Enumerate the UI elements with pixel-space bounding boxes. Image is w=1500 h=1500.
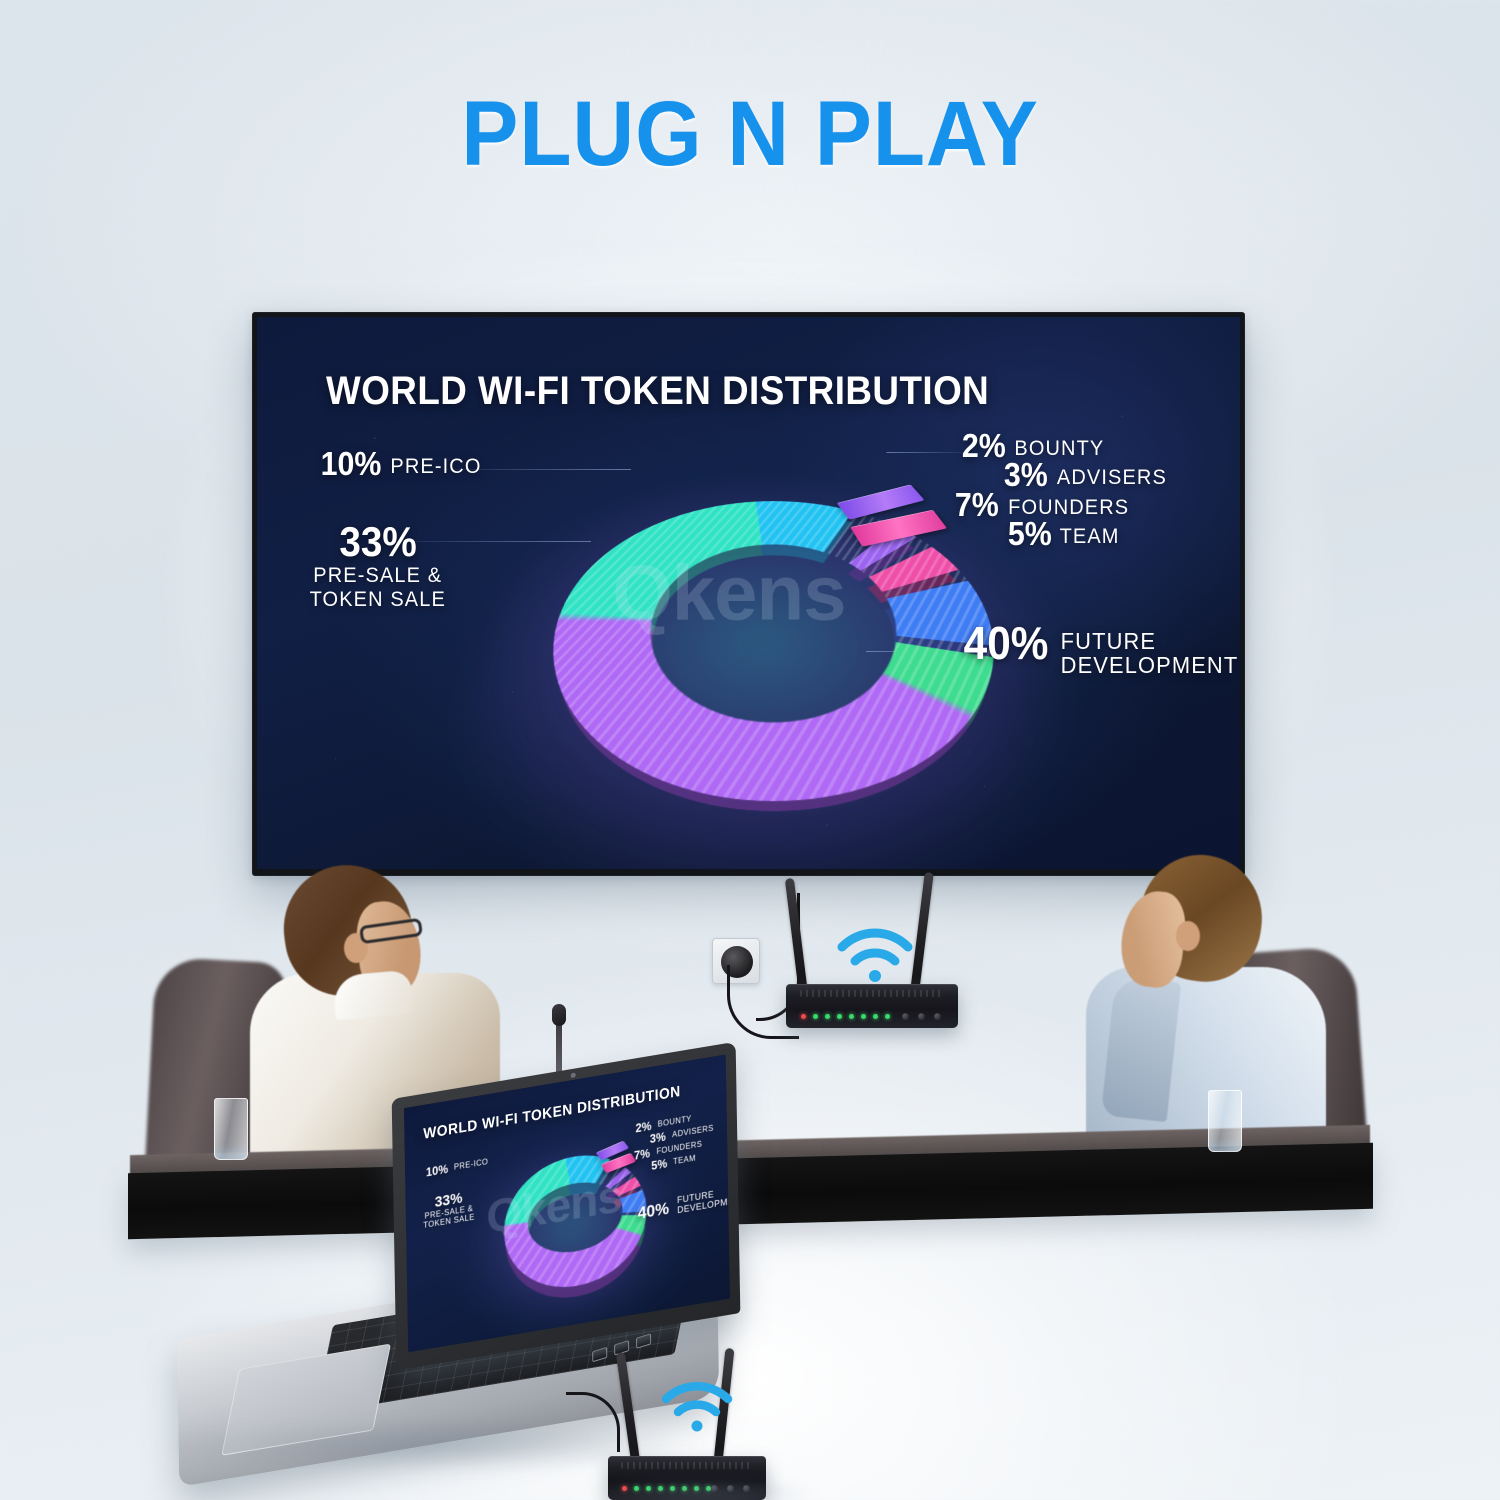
chart-label-presale-line2: TOKEN SALE	[310, 588, 446, 612]
person-right-ear	[1176, 921, 1200, 951]
laptop-label-team-pct: 5%	[651, 1157, 667, 1172]
slide-title: WORLD WI-FI TOKEN DISTRIBUTION	[326, 369, 989, 414]
router-antenna-left[interactable]	[616, 1352, 641, 1470]
router-led-power	[801, 1014, 806, 1019]
presentation-slide: WORLD WI-FI TOKEN DISTRIBUTION Qkens	[257, 317, 1240, 869]
laptop-label-preico-name: PRE-ICO	[454, 1158, 488, 1172]
water-glass-right	[1208, 1090, 1242, 1152]
chart-label-bounty-pct: 2%	[962, 429, 1006, 464]
router-led	[861, 1014, 866, 1019]
laptop-lid: WORLD WI-FI TOKEN DISTRIBUTION Qkens 10%…	[392, 1042, 741, 1371]
router-port-row[interactable]	[902, 1013, 941, 1020]
router-port[interactable]	[934, 1013, 941, 1020]
wifi-icon	[660, 1378, 734, 1436]
router-led	[813, 1014, 818, 1019]
chart-label-future: 40% FUTURE DEVELOPMENT	[960, 619, 1240, 677]
laptop-chart-label-presale: 33% PRE-SALE & TOKEN SALE	[422, 1186, 477, 1231]
router-led-panel	[801, 1014, 890, 1019]
chart-label-preico: 10% PRE-ICO	[318, 447, 484, 482]
donut-chart	[508, 501, 1038, 801]
presentation-slide-laptop: WORLD WI-FI TOKEN DISTRIBUTION Qkens 10%…	[404, 1054, 730, 1352]
webcam-icon	[571, 1072, 576, 1078]
chart-label-future-line1: FUTURE	[1061, 629, 1239, 653]
chart-label-presale-pct: 33%	[339, 520, 416, 564]
chart-label-team-name: TEAM	[1060, 526, 1120, 548]
router-shadow	[590, 1478, 820, 1500]
router-led	[837, 1014, 842, 1019]
headline-text: PLUG N PLAY	[461, 83, 1039, 185]
router-body	[786, 984, 958, 1028]
laptop-label-team-name: TEAM	[673, 1154, 696, 1166]
wall-mounted-tv[interactable]: WORLD WI-FI TOKEN DISTRIBUTION Qkens	[252, 312, 1245, 876]
chart-label-team: 5% TEAM	[1006, 517, 1121, 552]
router-led	[873, 1014, 878, 1019]
router-port[interactable]	[902, 1013, 909, 1020]
chart-label-preico-pct: 10%	[321, 447, 382, 482]
chart-label-future-pct: 40%	[964, 619, 1049, 667]
chart-label-team-pct: 5%	[1008, 517, 1052, 552]
router-led	[849, 1014, 854, 1019]
chart-label-presale-line1: PRE-SALE &	[310, 564, 446, 588]
laptop-label-preico-pct: 10%	[426, 1163, 448, 1179]
router-vent	[621, 1462, 754, 1469]
scene-root: PLUG N PLAY WORLD WI-FI TOKEN DISTRIBUTI…	[0, 0, 1500, 1500]
chart-label-future-line2: DEVELOPMENT	[1061, 653, 1239, 677]
router-led	[825, 1014, 830, 1019]
laptop-port[interactable]	[636, 1333, 651, 1349]
page-title: PLUG N PLAY	[53, 88, 1448, 180]
router-port[interactable]	[918, 1013, 925, 1020]
laptop-port[interactable]	[592, 1346, 607, 1362]
wifi-icon	[836, 925, 914, 987]
chart-label-founders-pct: 7%	[955, 488, 999, 523]
laptop-chart-label-preico: 10% PRE-ICO	[425, 1152, 490, 1180]
router-antenna-left[interactable]	[785, 878, 808, 996]
laptop-screen: WORLD WI-FI TOKEN DISTRIBUTION Qkens 10%…	[404, 1054, 730, 1352]
laptop-donut-chart	[499, 1145, 653, 1298]
router-vent	[800, 990, 944, 997]
router-led	[885, 1014, 890, 1019]
chart-label-presale: 33% PRE-SALE & TOKEN SALE	[306, 520, 450, 611]
tv-screen: WORLD WI-FI TOKEN DISTRIBUTION Qkens	[257, 317, 1240, 869]
laptop-label-founders-pct: 7%	[634, 1147, 650, 1162]
chart-label-preico-name: PRE-ICO	[391, 456, 482, 478]
chart-label-advisers-name: ADVISERS	[1057, 467, 1167, 489]
